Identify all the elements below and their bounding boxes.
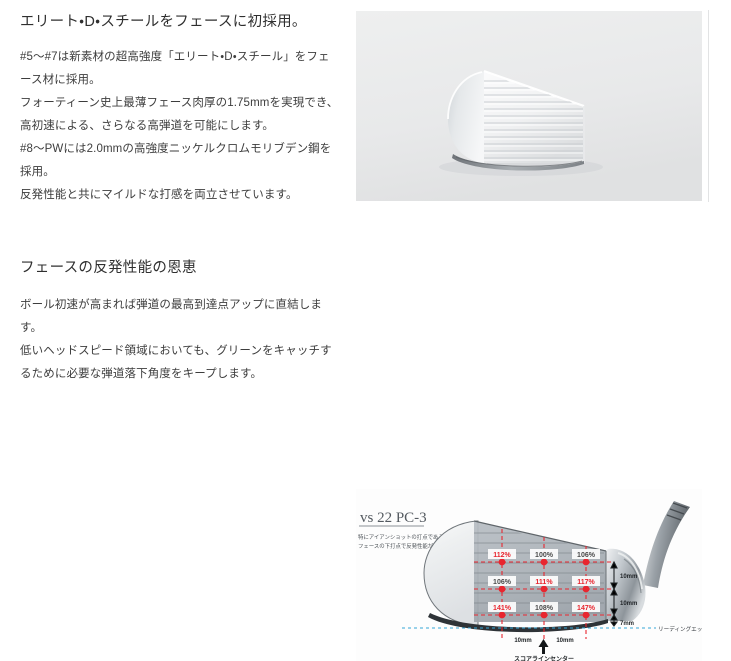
- panel-gutter-rule: [708, 10, 709, 202]
- rebound-value-0-1: 100%: [535, 552, 554, 559]
- rebound-label-row-2: 141% 108% 147%: [488, 602, 600, 612]
- rebound-label-row-0: 112% 100% 106%: [488, 549, 600, 559]
- vertical-dimension-label-0: 10mm: [620, 574, 637, 580]
- rebound-value-0-0: 112%: [493, 552, 511, 559]
- section-1-body: #5〜#7は新素材の超高強度「エリート・D・スチール」をフェース材に採用。 フォ…: [20, 46, 340, 207]
- section-1-paragraph-1: #5〜#7は新素材の超高強度「エリート・D・スチール」をフェース材に採用。: [20, 46, 340, 92]
- vertical-dimension-label-2: 7mm: [620, 621, 634, 627]
- vertical-dimension-label-1: 10mm: [620, 601, 637, 607]
- section-face-material: エリート・D・スチールをフェースに初採用。 #5〜#7は新素材の超高強度「エリー…: [0, 0, 731, 222]
- section-2-heading: フェースの反発性能の恩恵: [20, 258, 340, 278]
- product-info-page: エリート・D・スチールをフェースに初採用。 #5〜#7は新素材の超高強度「エリー…: [0, 0, 731, 441]
- section-1-heading: エリート・D・スチールをフェースに初採用。: [20, 12, 340, 32]
- rebound-value-2-0: 141%: [493, 605, 512, 612]
- rebound-value-1-2: 117%: [577, 579, 595, 586]
- rebound-value-2-2: 147%: [577, 605, 596, 612]
- section-1-text-column: エリート・D・スチールをフェースに初採用。 #5〜#7は新素材の超高強度「エリー…: [20, 0, 340, 207]
- leading-edge-label: リーディングエッジ: [658, 625, 702, 633]
- section-2-paragraph-1: ボール初速が高まれば弾道の最高到達点アップに直結します。: [20, 294, 340, 340]
- face-rebound-diagram: vs 22 PC-3 特にアイアンショットの打点である フェースの下打点で反発性…: [356, 489, 702, 661]
- section-1-paragraph-3: #8〜PWには2.0mmの高強度ニッケルクロムモリブデン鋼を採用。: [20, 138, 340, 184]
- rebound-value-1-1: 111%: [535, 579, 553, 586]
- horizontal-dimension-label-0: 10mm: [514, 638, 531, 644]
- section-2-body: ボール初速が高まれば弾道の最高到達点アップに直結します。 低いヘッドスピード領域…: [20, 294, 340, 386]
- rebound-value-2-1: 108%: [535, 605, 554, 612]
- section-1-paragraph-2: フォーティーン史上最薄フェース肉厚の1.75mmを実現でき、高初速による、さらな…: [20, 92, 340, 138]
- diagram-caption-line-1: 特にアイアンショットの打点である: [358, 533, 444, 541]
- golf-iron-face-photo: [356, 11, 702, 201]
- section-1-paragraph-4: 反発性能と共にマイルドな打感を両立させています。: [20, 184, 340, 207]
- rebound-label-row-1: 106% 111% 117%: [488, 576, 600, 586]
- rebound-value-1-0: 106%: [493, 579, 512, 586]
- section-face-rebound: フェースの反発性能の恩恵 ボール初速が高まれば弾道の最高到達点アップに直結します…: [0, 236, 731, 441]
- horizontal-dimension-label-1: 10mm: [556, 638, 573, 644]
- rebound-value-0-2: 106%: [577, 552, 596, 559]
- section-2-paragraph-2: 低いヘッドスピード領域においても、グリーンをキャッチするために必要な弾道落下角度…: [20, 340, 340, 386]
- diagram-title-text: vs 22 PC-3: [360, 510, 427, 526]
- section-2-text-column: フェースの反発性能の恩恵 ボール初速が高まれば弾道の最高到達点アップに直結します…: [20, 236, 340, 386]
